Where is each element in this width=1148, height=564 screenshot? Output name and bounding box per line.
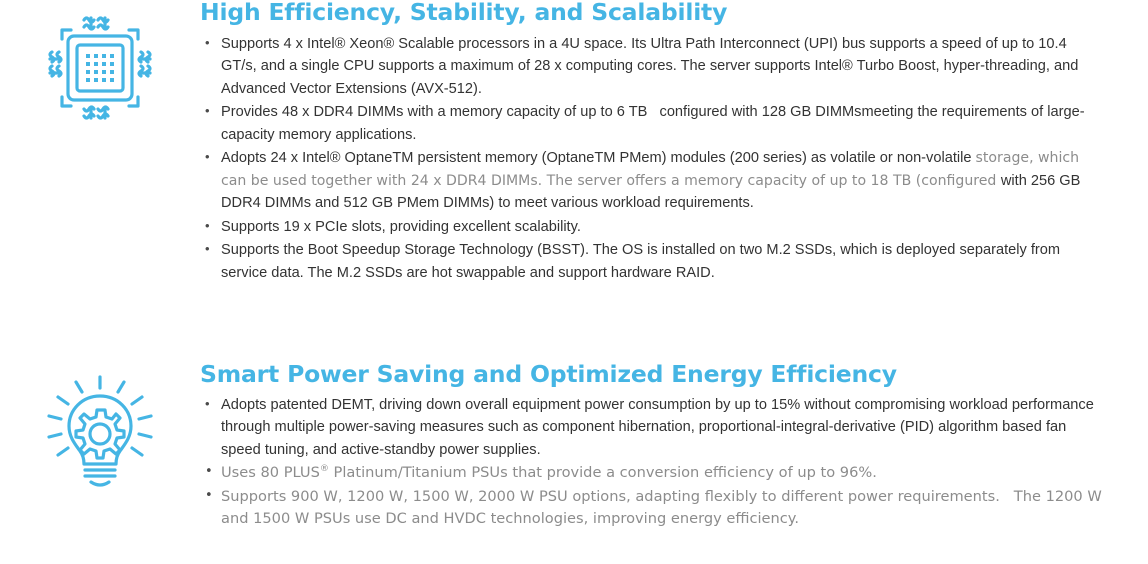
list-item: Provides 48 x DDR4 DIMMs with a memory c… bbox=[200, 101, 1106, 146]
bullet-text: Provides 48 x DDR4 DIMMs with a memory c… bbox=[221, 104, 647, 120]
registered-mark: ® bbox=[320, 464, 329, 474]
bullet-text: Adopts patented DEMT, driving down overa… bbox=[221, 397, 1094, 458]
cpu-chip-icon bbox=[44, 12, 156, 124]
section-high-efficiency: High Efficiency, Stability, and Scalabil… bbox=[0, 0, 1148, 285]
bullet-text: Supports 4 x Intel® Xeon® Scalable proce… bbox=[221, 36, 1078, 97]
bullet-text: Supports the Boot Speedup Storage Techno… bbox=[221, 242, 1060, 281]
text-gap bbox=[1000, 488, 1014, 505]
page-title: High Efficiency, Stability, and Scalabil… bbox=[200, 0, 1106, 26]
list-item: Uses 80 PLUS® Platinum/Titanium PSUs tha… bbox=[200, 462, 1106, 485]
list-item: Adopts patented DEMT, driving down overa… bbox=[200, 394, 1106, 462]
list-item: Supports 19 x PCIe slots, providing exce… bbox=[200, 216, 1106, 239]
bullet-text: Platinum/Titanium PSUs that provide a co… bbox=[329, 464, 877, 481]
list-item: Adopts 24 x Intel® OptaneTM persistent m… bbox=[200, 147, 1106, 215]
content-column: High Efficiency, Stability, and Scalabil… bbox=[200, 0, 1148, 285]
content-column: Smart Power Saving and Optimized Energy … bbox=[200, 362, 1148, 532]
lightbulb-gear-icon bbox=[44, 374, 156, 492]
bullet-text: Supports 19 x PCIe slots, providing exce… bbox=[221, 219, 581, 235]
bullet-text: Adopts 24 x Intel® OptaneTM persistent m… bbox=[221, 150, 976, 166]
text-gap bbox=[647, 104, 659, 120]
list-item: Supports 900 W, 1200 W, 1500 W, 2000 W P… bbox=[200, 486, 1106, 531]
list-item: Supports 4 x Intel® Xeon® Scalable proce… bbox=[200, 33, 1106, 101]
bullet-text: Uses 80 PLUS bbox=[221, 464, 320, 481]
feature-list: Adopts patented DEMT, driving down overa… bbox=[200, 394, 1106, 531]
section-smart-power-saving: Smart Power Saving and Optimized Energy … bbox=[0, 362, 1148, 532]
bullet-text: Supports 900 W, 1200 W, 1500 W, 2000 W P… bbox=[221, 488, 1000, 505]
feature-highlights-page: High Efficiency, Stability, and Scalabil… bbox=[0, 0, 1148, 564]
page-title: Smart Power Saving and Optimized Energy … bbox=[200, 362, 1106, 388]
icon-column bbox=[0, 0, 200, 124]
icon-column bbox=[0, 362, 200, 492]
list-item: Supports the Boot Speedup Storage Techno… bbox=[200, 239, 1106, 284]
feature-list: Supports 4 x Intel® Xeon® Scalable proce… bbox=[200, 33, 1106, 285]
